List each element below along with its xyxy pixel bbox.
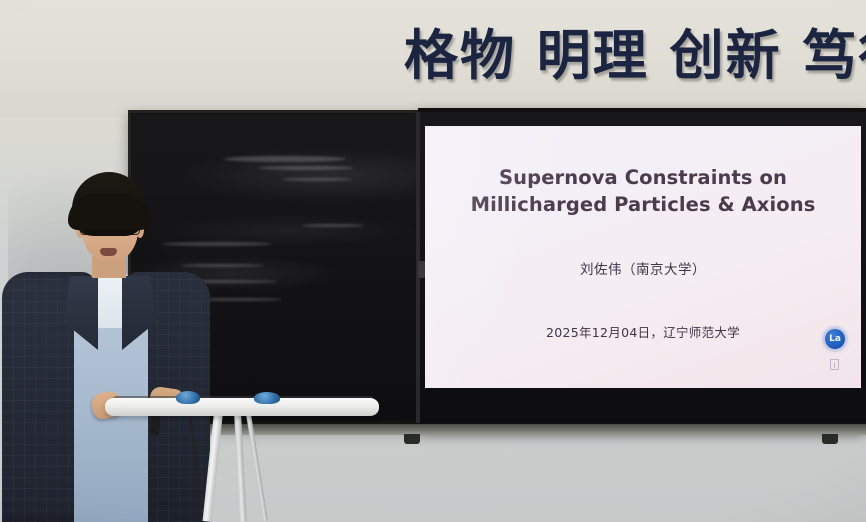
lecture-room-scene: 格物 明理 创新 笃行 Supernova Constraints on Mil…	[0, 0, 866, 522]
slide-author: 刘佐伟（南京大学）	[580, 258, 706, 278]
chalk-smudge	[282, 178, 352, 181]
desk-object-blue-2[interactable]	[254, 392, 280, 404]
display-foot-mid	[404, 434, 420, 444]
slide-document-icon	[830, 359, 839, 370]
chalk-smudge	[302, 224, 364, 227]
slide-title: Supernova Constraints on Millicharged Pa…	[425, 164, 861, 218]
presenter-table[interactable]	[105, 398, 379, 416]
display-side-button[interactable]	[418, 261, 425, 278]
presenter-mouth	[100, 248, 117, 256]
desk-object-blue-1[interactable]	[176, 391, 200, 404]
slide-title-line-2: Millicharged Particles & Axions	[425, 191, 861, 218]
slide-badge-icon: La	[825, 329, 845, 349]
chalk-smudge	[258, 166, 354, 170]
display-foot-right	[822, 434, 838, 444]
slide-date-venue: 2025年12月04日，辽宁师范大学	[546, 322, 740, 341]
wall-motto-sign: 格物 明理 创新 笃行	[404, 22, 866, 90]
chalk-smudge	[224, 156, 346, 162]
presenter-hair-fringe	[68, 194, 150, 230]
presenter	[0, 160, 210, 522]
presentation-slide[interactable]: Supernova Constraints on Millicharged Pa…	[425, 126, 861, 388]
slide-title-line-1: Supernova Constraints on	[425, 164, 861, 191]
